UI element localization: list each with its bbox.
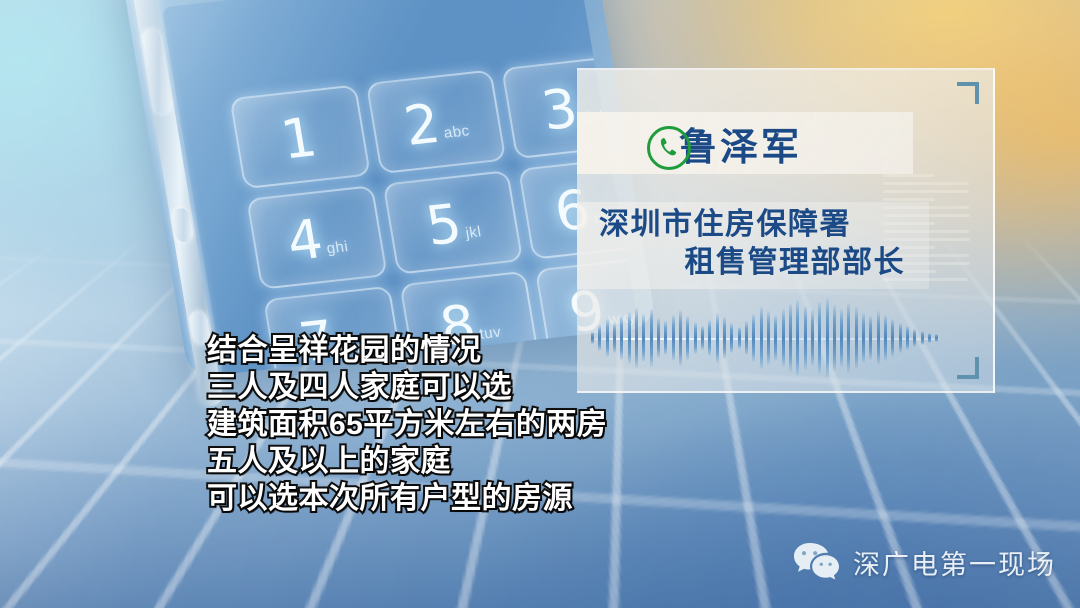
- subtitle-line: 五人及以上的家庭: [207, 444, 907, 481]
- phone-handset-icon: [647, 126, 691, 170]
- watermark-text: 深广电第一现场: [853, 543, 1056, 582]
- broadcast-screen: 12abc3def4ghi5jkl6mno7pqrs8tuv9wxyz 鲁泽军 …: [0, 0, 1080, 608]
- waveform-bar: [913, 329, 916, 347]
- interviewee-name: 鲁泽军: [679, 116, 802, 171]
- subtitle-block: 结合呈祥花园的情况三人及四人家庭可以选建筑面积65平方米左右的两房五人及以上的家…: [207, 333, 907, 517]
- interviewee-title-line-1: 深圳市住房保障署: [577, 206, 913, 244]
- waveform-bar: [928, 333, 931, 343]
- subtitle-line: 可以选本次所有户型的房源: [207, 481, 907, 518]
- decorative-line: [883, 190, 969, 193]
- subtitle-line: 三人及四人家庭可以选: [207, 370, 907, 407]
- decorative-line: [883, 198, 935, 201]
- decorative-line: [883, 182, 969, 185]
- subtitle-line: 建筑面积65平方米左右的两房: [207, 407, 907, 444]
- waveform-bar: [921, 331, 924, 345]
- corner-bracket-top-right: [957, 82, 979, 104]
- decorative-line: [883, 174, 934, 177]
- waveform-bar: [935, 334, 938, 342]
- corner-bracket-bottom-right: [957, 357, 979, 379]
- wechat-icon: [791, 540, 841, 584]
- interviewee-title-line-2: 租售管理部部长: [577, 244, 913, 282]
- interviewee-name-band: 鲁泽军: [577, 112, 913, 174]
- subtitle-line: 结合呈祥花园的情况: [207, 333, 907, 370]
- channel-watermark: 深广电第一现场: [791, 540, 1056, 584]
- interviewee-title: 深圳市住房保障署 租售管理部部长: [577, 202, 929, 289]
